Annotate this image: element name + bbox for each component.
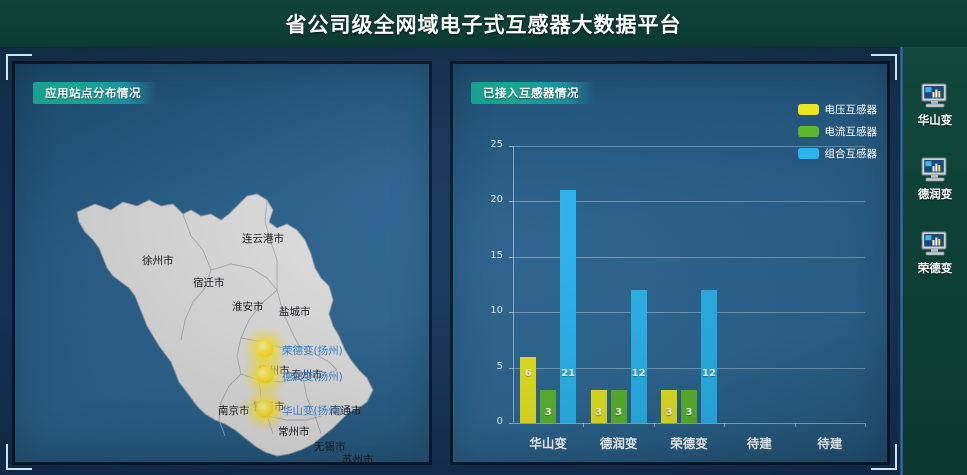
legend-item-current[interactable]: 电流互感器 [798,124,878,139]
bar[interactable]: 6 [520,357,536,423]
y-tick-label: 5 [477,361,503,372]
monitor-icon [920,83,950,109]
rail-item-derun[interactable]: 德润变 [903,157,967,202]
chart-panel-title: 已接入互感器情况 [471,82,595,104]
site-label-derun: 德润变(扬州) [282,369,343,384]
legend-label-current: 电流互感器 [825,124,878,139]
city-label: 盐城市 [279,304,311,319]
legend-label-combined: 组合互感器 [825,146,878,161]
y-tick-label: 20 [477,194,503,205]
city-label: 苏州市 [342,452,374,463]
y-tick-label: 0 [477,416,503,427]
bar[interactable]: 12 [631,290,647,423]
city-label: 无锡市 [314,439,346,454]
bar-value-label: 3 [661,407,677,418]
city-label: 连云港市 [242,231,284,246]
legend-item-voltage[interactable]: 电压互感器 [798,102,878,117]
bar[interactable]: 3 [681,390,697,423]
y-tick-mark [509,201,513,202]
y-tick-label: 10 [477,305,503,316]
marker-dot [257,367,274,384]
monitor-icon [920,231,950,257]
city-label: 淮安市 [232,299,264,314]
map-panel: 应用站点分布情况 [14,63,430,463]
rail-item-rongde[interactable]: 荣德变 [903,231,967,276]
legend-label-voltage: 电压互感器 [825,102,878,117]
y-tick-mark [509,368,513,369]
page-title: 省公司级全网域电子式互感器大数据平台 [286,9,682,39]
bar[interactable]: 3 [661,390,677,423]
bar-value-label: 6 [520,368,536,379]
map-stage[interactable]: 连云港市 徐州市 宿迁市 淮安市 盐城市 扬州市 泰州市 南京市 镇江市 南通市… [15,64,429,462]
city-label: 徐州市 [142,253,174,268]
bar[interactable]: 12 [701,290,717,423]
y-tick-label: 25 [477,139,503,150]
x-tick-label: 德润变 [584,433,654,452]
x-tick-mark [865,423,866,427]
y-tick-mark [509,423,513,424]
corner-bracket-top-right [871,54,897,80]
city-label: 宿迁市 [193,275,225,290]
y-tick-mark [509,312,513,313]
bar[interactable]: 3 [591,390,607,423]
x-tick-label: 待建 [724,433,794,452]
chart-legend: 电压互感器 电流互感器 组合互感器 [798,102,878,168]
bar-value-label: 12 [701,368,717,379]
bar-value-label: 3 [611,407,627,418]
map-panel-title: 应用站点分布情况 [33,82,157,104]
legend-swatch-voltage [798,104,819,115]
x-tick-label: 荣德变 [654,433,724,452]
rail-item-huashan[interactable]: 华山变 [903,83,967,128]
x-tick-mark [654,423,655,427]
legend-swatch-combined [798,148,819,159]
x-tick-mark [724,423,725,427]
rail-label-derun: 德润变 [918,186,953,202]
bar-value-label: 3 [540,407,556,418]
corner-bracket-top-left [6,54,32,80]
x-tick-mark [795,423,796,427]
bar[interactable]: 21 [560,190,576,423]
legend-item-combined[interactable]: 组合互感器 [798,146,878,161]
y-tick-mark [509,257,513,258]
bar-value-label: 21 [560,368,576,379]
bar[interactable]: 3 [540,390,556,423]
marker-dot [257,401,274,418]
bar-value-label: 3 [591,407,607,418]
site-label-huashan: 华山变(扬州) [282,403,343,418]
bar[interactable]: 3 [611,390,627,423]
x-tick-mark [583,423,584,427]
x-tick-label: 待建 [795,433,865,452]
chart-panel: 已接入互感器情况 电压互感器 电流互感器 组合互感器 0510152025632… [452,63,888,463]
app-header: 省公司级全网域电子式互感器大数据平台 [0,0,967,47]
x-tick-label: 华山变 [513,433,583,452]
station-icon-rail: 华山变 德润变 [903,47,967,475]
bar-value-label: 3 [681,407,697,418]
rail-label-rongde: 荣德变 [918,260,953,276]
site-label-rongde: 荣德变(扬州) [282,343,343,358]
monitor-icon [920,157,950,183]
dashboard-container: 应用站点分布情况 [0,47,903,475]
y-axis [513,146,514,423]
y-tick-mark [509,146,513,147]
corner-bracket-bottom-left [6,444,32,470]
x-axis [513,423,865,424]
bar-value-label: 12 [631,368,647,379]
y-tick-label: 15 [477,250,503,261]
rail-label-huashan: 华山变 [918,112,953,128]
legend-swatch-current [798,126,819,137]
corner-bracket-bottom-right [871,444,897,470]
